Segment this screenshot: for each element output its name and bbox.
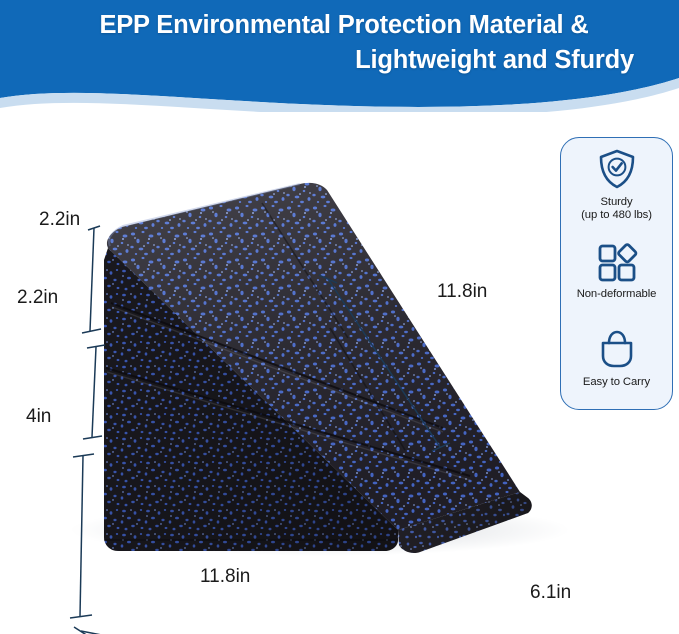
ext-mid <box>92 347 96 437</box>
infographic-canvas: EPP Environmental Protection Material & … <box>0 0 679 634</box>
feature-item-sturdy: Sturdy (up to 480 lbs) <box>561 146 672 240</box>
tick-base-left <box>74 627 88 634</box>
tick-top-lower <box>82 329 101 333</box>
dimension-label-bottom-height: 4in <box>26 406 51 428</box>
dimension-label-slope-length: 11.8in <box>437 281 487 303</box>
four-shapes-icon <box>594 240 640 284</box>
feature-label-easy-to-carry: Easy to Carry <box>583 376 650 389</box>
feature-badge-panel: Sturdy (up to 480 lbs) Non-deformable <box>560 137 673 410</box>
feature-label-non-deformable: Non-deformable <box>577 288 657 301</box>
feature-item-easy-to-carry: Easy to Carry <box>561 326 672 409</box>
banner-title-line2: Lightweight and Sfurdy <box>40 43 648 78</box>
dimension-label-top-height: 2.2in <box>39 209 80 231</box>
handbag-icon <box>594 326 640 372</box>
dimension-label-depth: 6.1in <box>530 582 571 604</box>
tick-bot-lower <box>70 615 92 618</box>
banner-title-line1: EPP Environmental Protection Material & <box>99 11 588 39</box>
header-banner: EPP Environmental Protection Material & … <box>0 0 679 112</box>
dimension-label-middle-height: 2.2in <box>17 287 58 309</box>
ext-top <box>90 228 94 331</box>
feature-item-non-deformable: Non-deformable <box>561 240 672 327</box>
feature-label-sturdy: Sturdy (up to 480 lbs) <box>581 196 652 223</box>
shield-check-icon <box>594 146 640 192</box>
feature-label-sturdy-line2: (up to 480 lbs) <box>581 209 652 221</box>
banner-title: EPP Environmental Protection Material & … <box>40 8 648 78</box>
feature-label-sturdy-line1: Sturdy <box>600 196 632 208</box>
dimension-label-base-length: 11.8in <box>200 566 250 588</box>
